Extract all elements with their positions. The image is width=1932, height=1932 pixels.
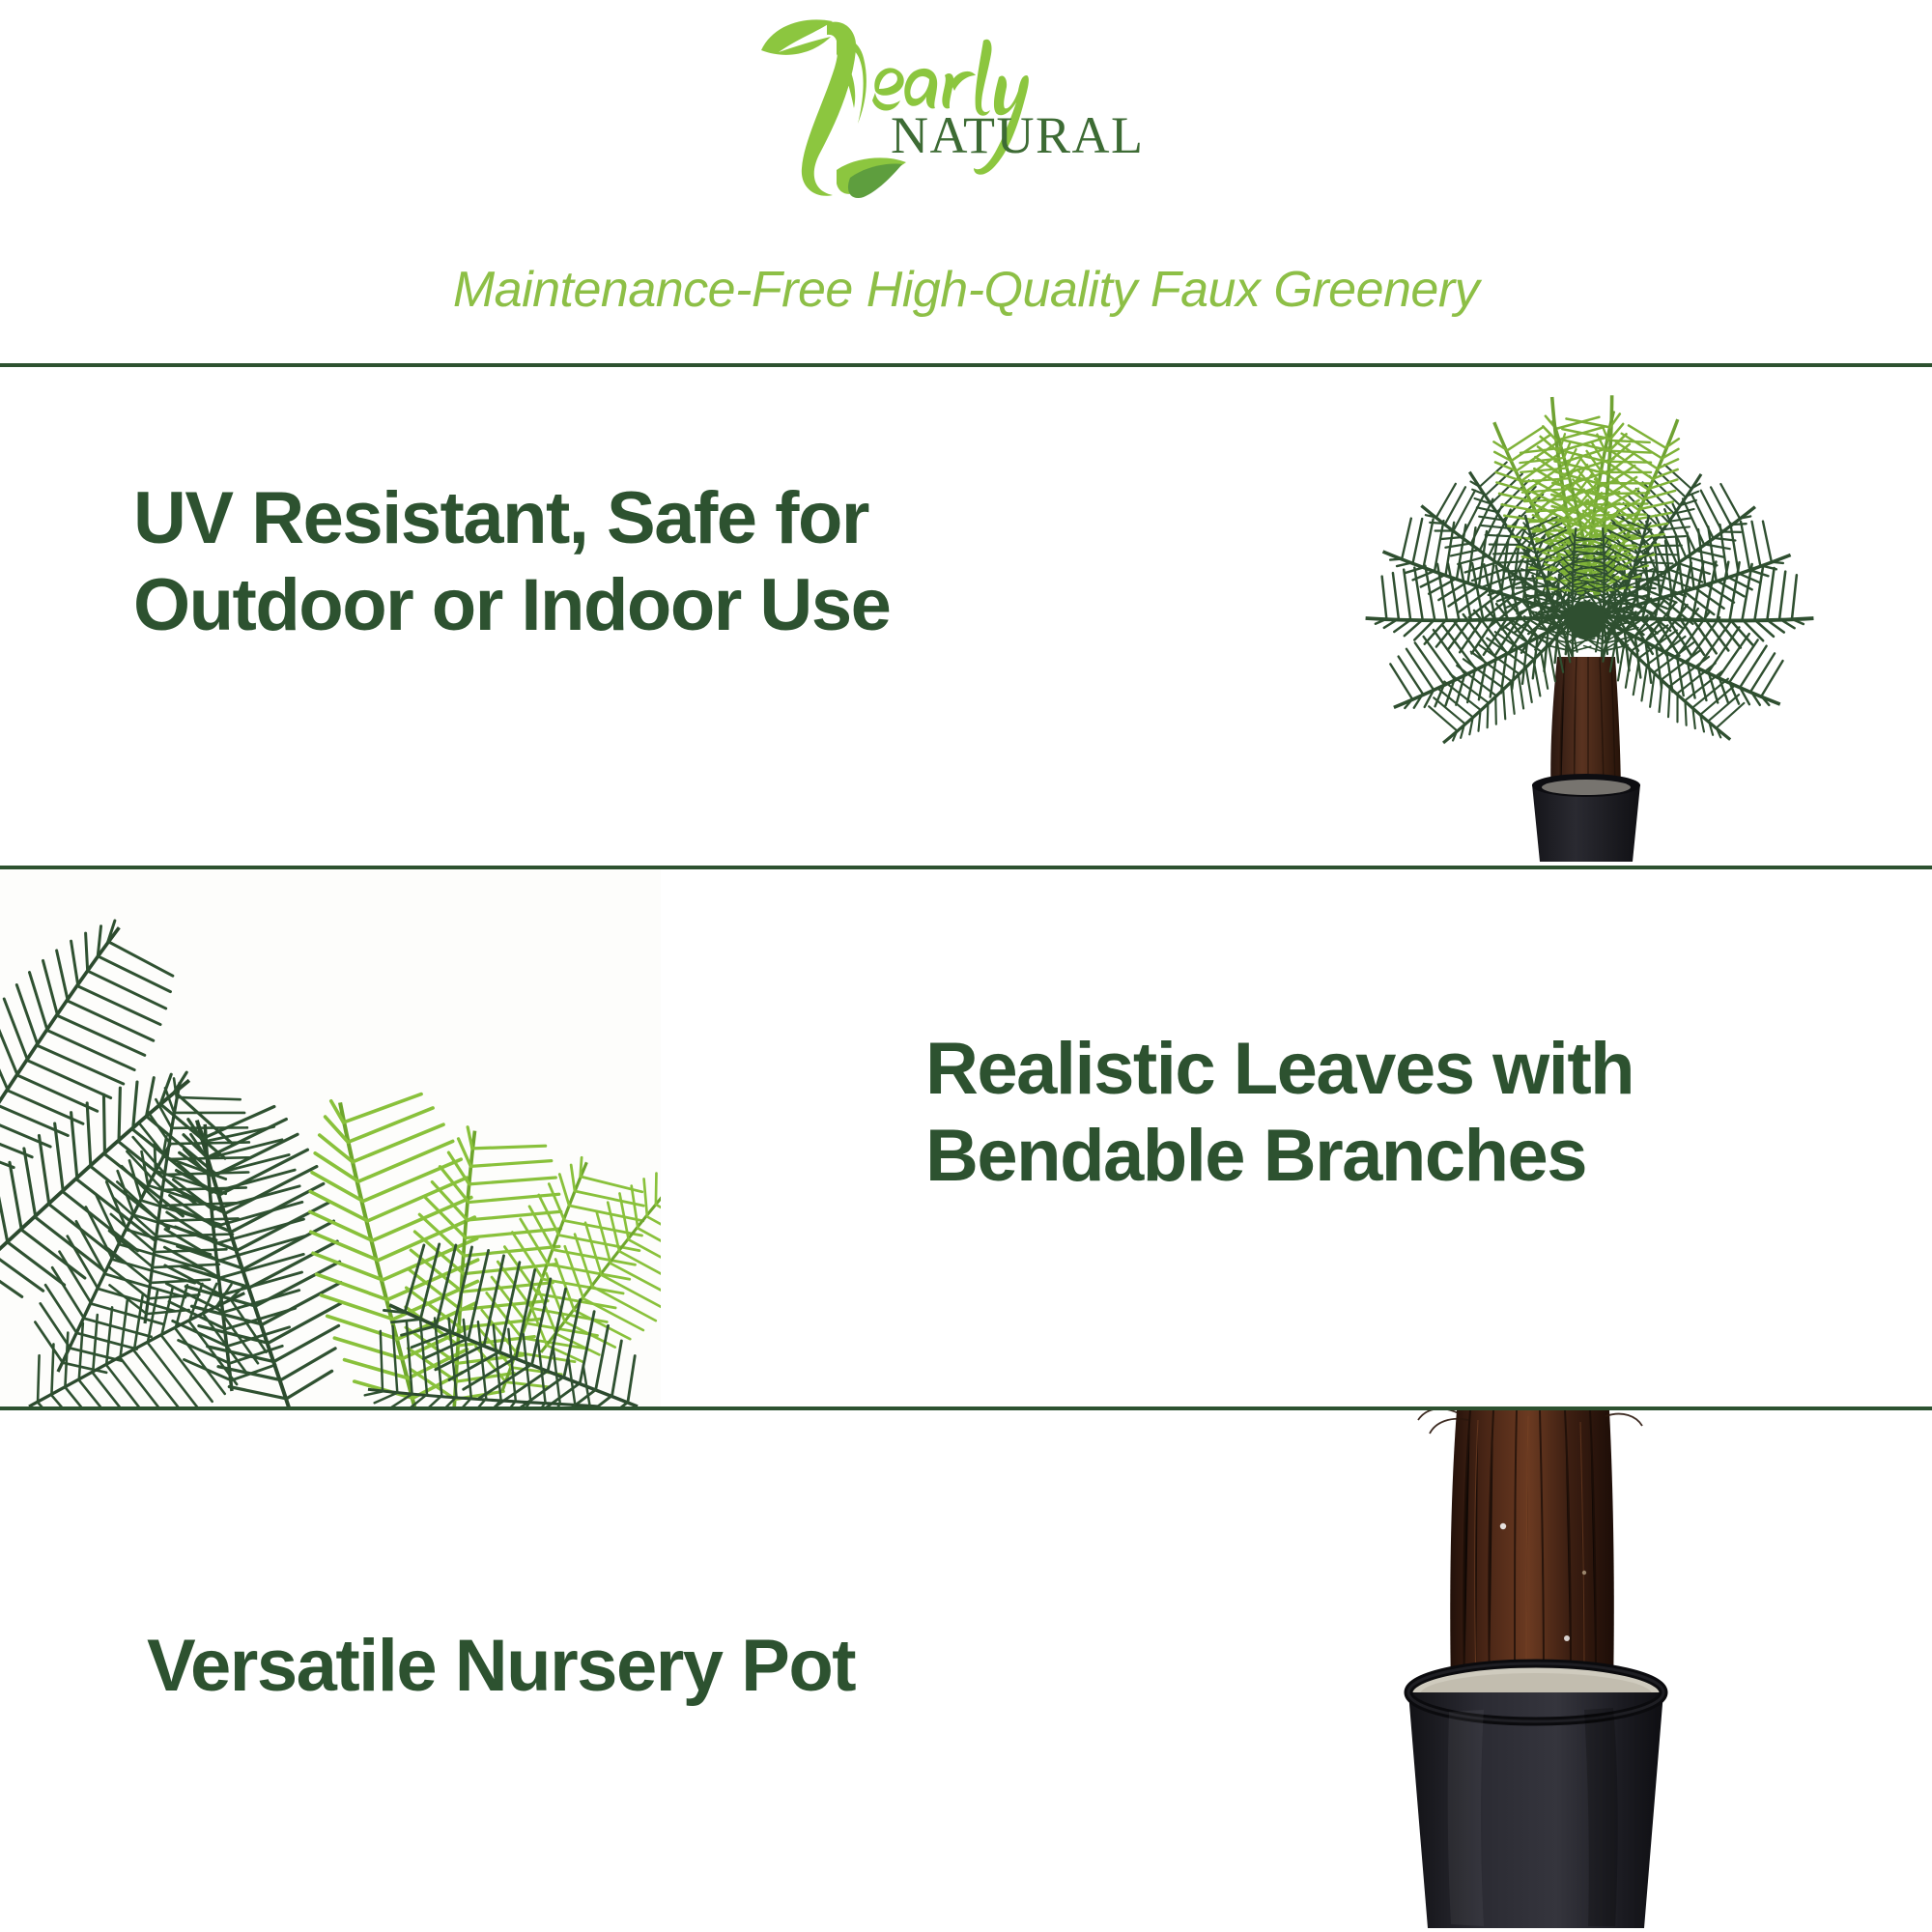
feature-headline-nursery-pot: Versatile Nursery Pot (147, 1623, 1113, 1710)
svg-text:NATURAL: NATURAL (891, 106, 1145, 164)
feature-headline-realistic-leaves: Realistic Leaves with Bendable Branches (925, 1026, 1853, 1199)
photo-nursery-pot (1294, 1410, 1932, 1932)
palm-tree-image (1236, 367, 1932, 866)
photo-full-palm-tree (1236, 367, 1932, 866)
brand-tagline: Maintenance-Free High-Quality Faux Green… (0, 261, 1932, 319)
palm-frond-closeup-image (0, 869, 661, 1406)
headline-line: Bendable Branches (925, 1113, 1853, 1200)
headline-line: Outdoor or Indoor Use (133, 562, 1148, 649)
product-infographic: NATURAL Maintenance-Free High-Quality Fa… (0, 0, 1932, 1932)
brand-logo: NATURAL (744, 8, 1188, 201)
headline-line: Versatile Nursery Pot (147, 1623, 1113, 1710)
headline-line: Realistic Leaves with (925, 1026, 1853, 1113)
headline-line: UV Resistant, Safe for (133, 475, 1148, 562)
nearly-natural-logo-icon: NATURAL (744, 8, 1188, 201)
header: NATURAL Maintenance-Free High-Quality Fa… (0, 0, 1932, 365)
nursery-pot-image (1294, 1410, 1932, 1932)
feature-headline-uv-resistant: UV Resistant, Safe for Outdoor or Indoor… (133, 475, 1148, 648)
photo-leaf-closeup (0, 869, 661, 1406)
